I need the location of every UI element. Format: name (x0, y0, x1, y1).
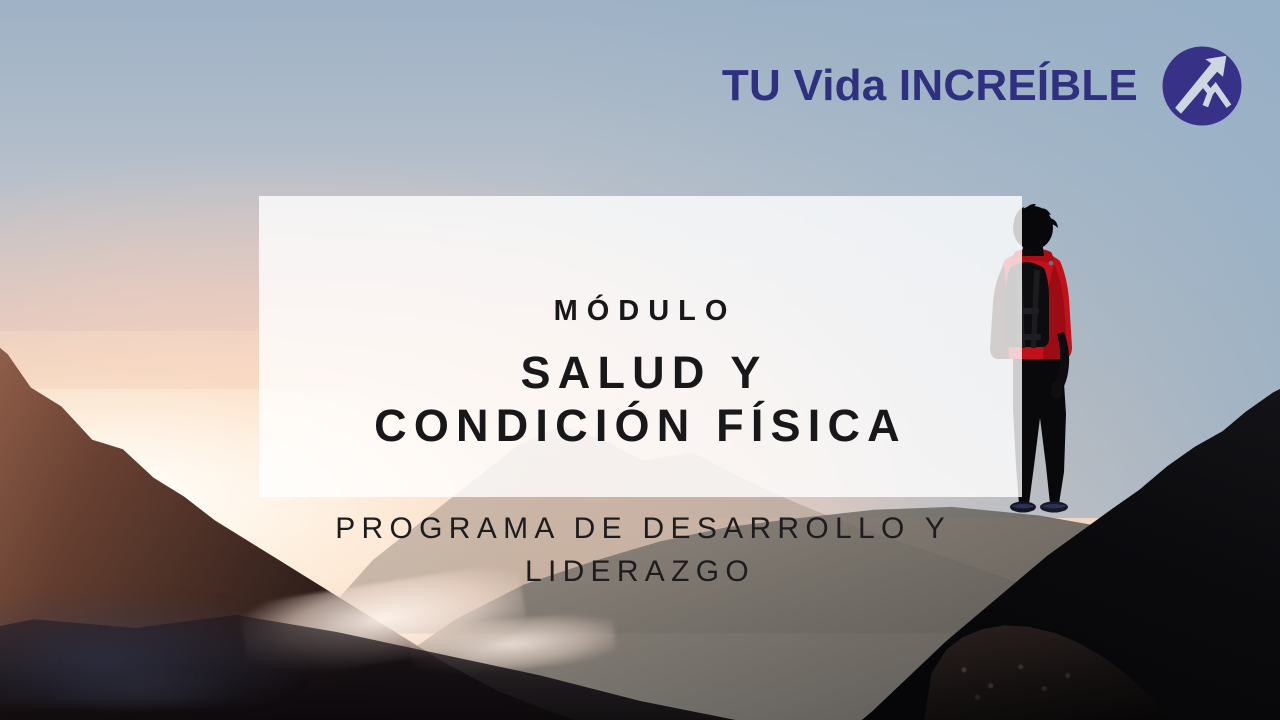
brand-lockup[interactable]: TU Vida INCREÍBLE (722, 44, 1244, 128)
slide-canvas: MÓDULO SALUD Y CONDICIÓN FÍSICA PROGRAMA… (0, 0, 1280, 720)
brand-name: TU Vida INCREÍBLE (722, 64, 1138, 108)
program-subtitle: PROGRAMA DE DESARROLLO Y LIDERAZGO (0, 508, 1280, 593)
cold-shadow-cast (0, 590, 307, 705)
summit-rock-texture (934, 641, 1100, 713)
title-panel (259, 196, 1022, 497)
mountain-arrow-circle-icon (1160, 44, 1244, 128)
